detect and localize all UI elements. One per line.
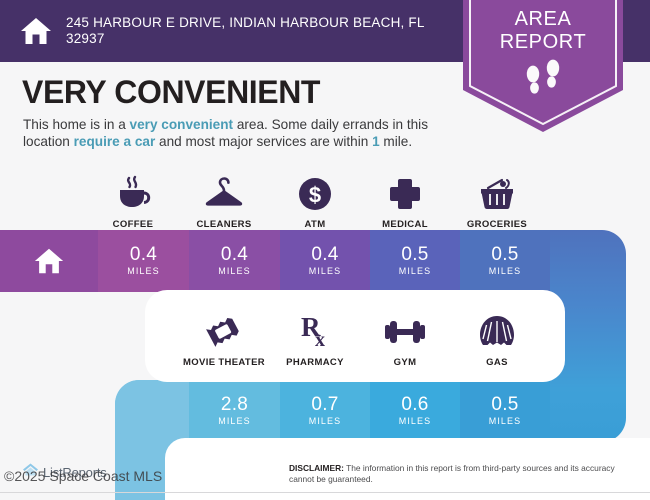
page-title: VERY CONVENIENT [22, 74, 320, 111]
desc-part-4: mile. [380, 134, 412, 149]
distance-value: 0.6 [401, 395, 428, 415]
desc-highlight-1: very convenient [130, 117, 234, 132]
amenity-atm: $ ATM [279, 172, 351, 230]
bar-segment-start [115, 380, 189, 442]
amenity-label: GAS [486, 357, 508, 368]
amenity-label: GROCERIES [467, 219, 527, 230]
badge-text: AREA REPORT [463, 8, 623, 54]
coffee-cup-icon [113, 172, 153, 214]
distance-cell-cleaners: 0.4 MILES [189, 230, 280, 292]
amenity-label: MOVIE THEATER [183, 357, 265, 368]
distance-bar-bottom: 2.8 MILES 0.7 MILES 0.6 MILES 0.5 MILES [0, 380, 650, 442]
amenity-label: MEDICAL [382, 219, 428, 230]
amenity-movie-theater: MOVIE THEATER [178, 310, 270, 368]
distance-value: 0.5 [491, 395, 518, 415]
gas-shell-icon [476, 310, 518, 352]
distance-cell-medical: 0.5 MILES [370, 230, 460, 292]
amenity-label: CLEANERS [196, 219, 251, 230]
distance-cell-groceries: 0.5 MILES [460, 230, 550, 292]
dollar-circle-icon: $ [295, 172, 335, 214]
badge-line-2: REPORT [463, 31, 623, 54]
distance-unit: MILES [309, 416, 342, 427]
page-description: This home is in a very convenient area. … [23, 116, 463, 150]
distance-bar-top: 0.4 MILES 0.4 MILES 0.4 MILES 0.5 MILES … [0, 230, 650, 292]
distance-value: 0.5 [491, 245, 518, 265]
distance-value: 0.4 [130, 245, 157, 265]
disclaimer: DISCLAIMER: The information in this repo… [289, 463, 619, 484]
distance-value: 0.7 [311, 395, 338, 415]
distance-cell-movie: 2.8 MILES [189, 380, 280, 442]
distance-unit: MILES [489, 266, 522, 277]
area-report-page: 245 HARBOUR E DRIVE, INDIAN HARBOUR BEAC… [0, 0, 650, 500]
amenity-medical: MEDICAL [369, 172, 441, 230]
distance-unit: MILES [309, 266, 342, 277]
property-address: 245 HARBOUR E DRIVE, INDIAN HARBOUR BEAC… [66, 15, 446, 47]
distance-value: 2.8 [221, 395, 248, 415]
amenity-gym: GYM [369, 310, 441, 368]
distance-cell-gym: 0.6 MILES [370, 380, 460, 442]
grocery-basket-icon [476, 172, 518, 214]
amenity-gas: GAS [461, 310, 533, 368]
icon-row-top: COFFEE CLEANERS $ ATM [0, 172, 650, 228]
badge-line-1: AREA [463, 8, 623, 31]
clothes-hanger-icon [202, 172, 246, 214]
amenity-cleaners: CLEANERS [188, 172, 260, 230]
distance-unit: MILES [127, 266, 160, 277]
amenity-groceries: GROCERIES [461, 172, 533, 230]
distance-cell-gas: 0.5 MILES [460, 380, 550, 442]
distance-unit: MILES [218, 416, 251, 427]
rx-icon: R x [295, 310, 335, 352]
amenity-coffee: COFFEE [97, 172, 169, 230]
desc-highlight-2: require a car [74, 134, 156, 149]
distance-unit: MILES [489, 416, 522, 427]
amenity-label: COFFEE [113, 219, 154, 230]
distance-unit: MILES [399, 416, 432, 427]
house-icon [0, 230, 98, 292]
footer-divider [0, 492, 650, 493]
distance-cell-coffee: 0.4 MILES [98, 230, 189, 292]
desc-highlight-3: 1 [372, 134, 380, 149]
desc-part-1: This home is in a [23, 117, 130, 132]
amenity-label: PHARMACY [286, 357, 344, 368]
movie-ticket-icon [202, 310, 246, 352]
icon-row-bottom: MOVIE THEATER R x PHARMACY [0, 310, 650, 368]
amenity-pharmacy: R x PHARMACY [279, 310, 351, 368]
distance-cell-atm: 0.4 MILES [280, 230, 370, 292]
svg-text:$: $ [309, 183, 321, 208]
mls-watermark: ©2025 Space Coast MLS [4, 468, 162, 484]
amenity-label: ATM [305, 219, 326, 230]
desc-part-3: and most major services are within [155, 134, 372, 149]
disclaimer-label: DISCLAIMER: [289, 463, 344, 473]
amenity-label: GYM [394, 357, 417, 368]
svg-text:x: x [315, 329, 325, 351]
distance-cell-pharmacy: 0.7 MILES [280, 380, 370, 442]
dumbbell-icon [382, 310, 428, 352]
house-icon [18, 13, 54, 49]
medical-cross-icon [385, 172, 425, 214]
area-report-badge: AREA REPORT [463, 0, 623, 132]
distance-value: 0.4 [221, 245, 248, 265]
distance-value: 0.5 [401, 245, 428, 265]
distance-unit: MILES [218, 266, 251, 277]
distance-unit: MILES [399, 266, 432, 277]
distance-value: 0.4 [311, 245, 338, 265]
